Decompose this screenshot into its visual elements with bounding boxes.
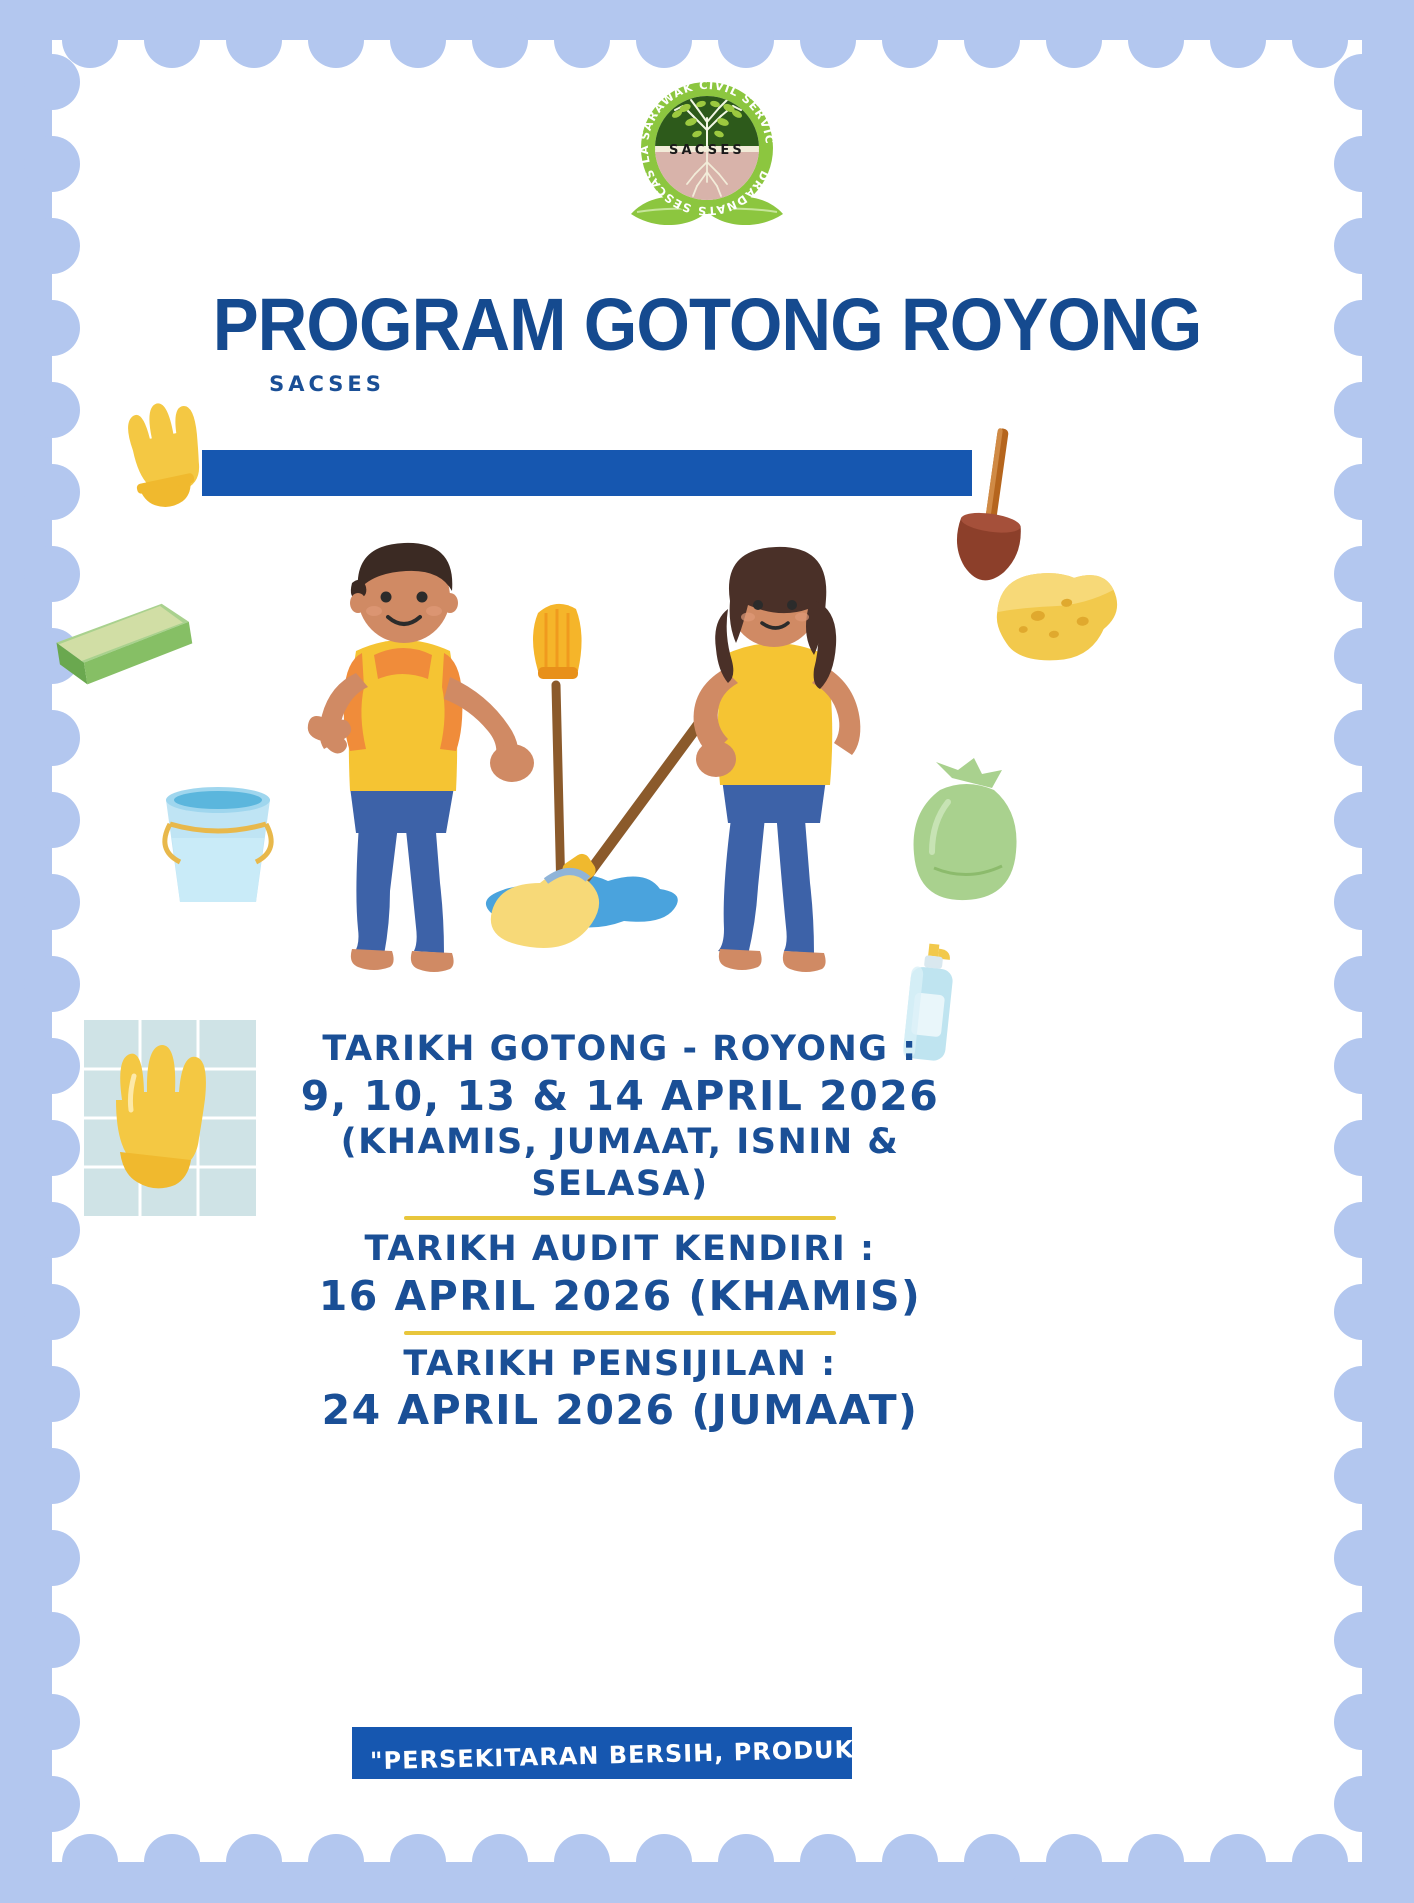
title-block: PROGRAM GOTONG ROYONG SACSES	[0, 288, 1414, 396]
green-garbage-bag-icon	[896, 756, 1036, 921]
gotong-royong-days: (KHAMIS, JUMAAT, ISNIN & SELASA)	[300, 1121, 940, 1206]
page-title: PROGRAM GOTONG ROYONG	[49, 288, 1364, 362]
dates-block: TARIKH GOTONG - ROYONG : 9, 10, 13 & 14 …	[300, 1028, 940, 1435]
yellow-glove-tile-icon	[76, 1014, 266, 1237]
divider-pensijilan	[404, 1331, 836, 1335]
audit-date: 16 APRIL 2026 (KHAMIS)	[300, 1271, 940, 1321]
pensijilan-date: 24 APRIL 2026 (JUMAAT)	[300, 1385, 940, 1435]
poster-root: SARAWAK CIVIL SERVICE ENVIRONM DRADNATS …	[0, 0, 1414, 1903]
yellow-sponge-icon	[986, 556, 1126, 681]
pensijilan-label: TARIKH PENSIJILAN :	[300, 1343, 940, 1386]
blue-bucket-icon	[148, 778, 288, 923]
gotong-royong-date: 9, 10, 13 & 14 APRIL 2026	[300, 1071, 940, 1121]
gotong-royong-label: TARIKH GOTONG - ROYONG :	[300, 1028, 940, 1071]
green-sponge-icon	[40, 592, 210, 707]
accent-bar	[202, 450, 972, 496]
slogan-text: "PERSEKITARAN BERSIH, PRODUKTIVITI MENIN…	[352, 1730, 852, 1775]
audit-label: TARIKH AUDIT KENDIRI :	[300, 1228, 940, 1271]
divider-audit	[404, 1216, 836, 1220]
yellow-glove-top-left-icon	[105, 392, 225, 527]
cleaning-illustration	[300, 505, 880, 995]
slogan-banner: "PERSEKITARAN BERSIH, PRODUKTIVITI MENIN…	[352, 1727, 852, 1779]
